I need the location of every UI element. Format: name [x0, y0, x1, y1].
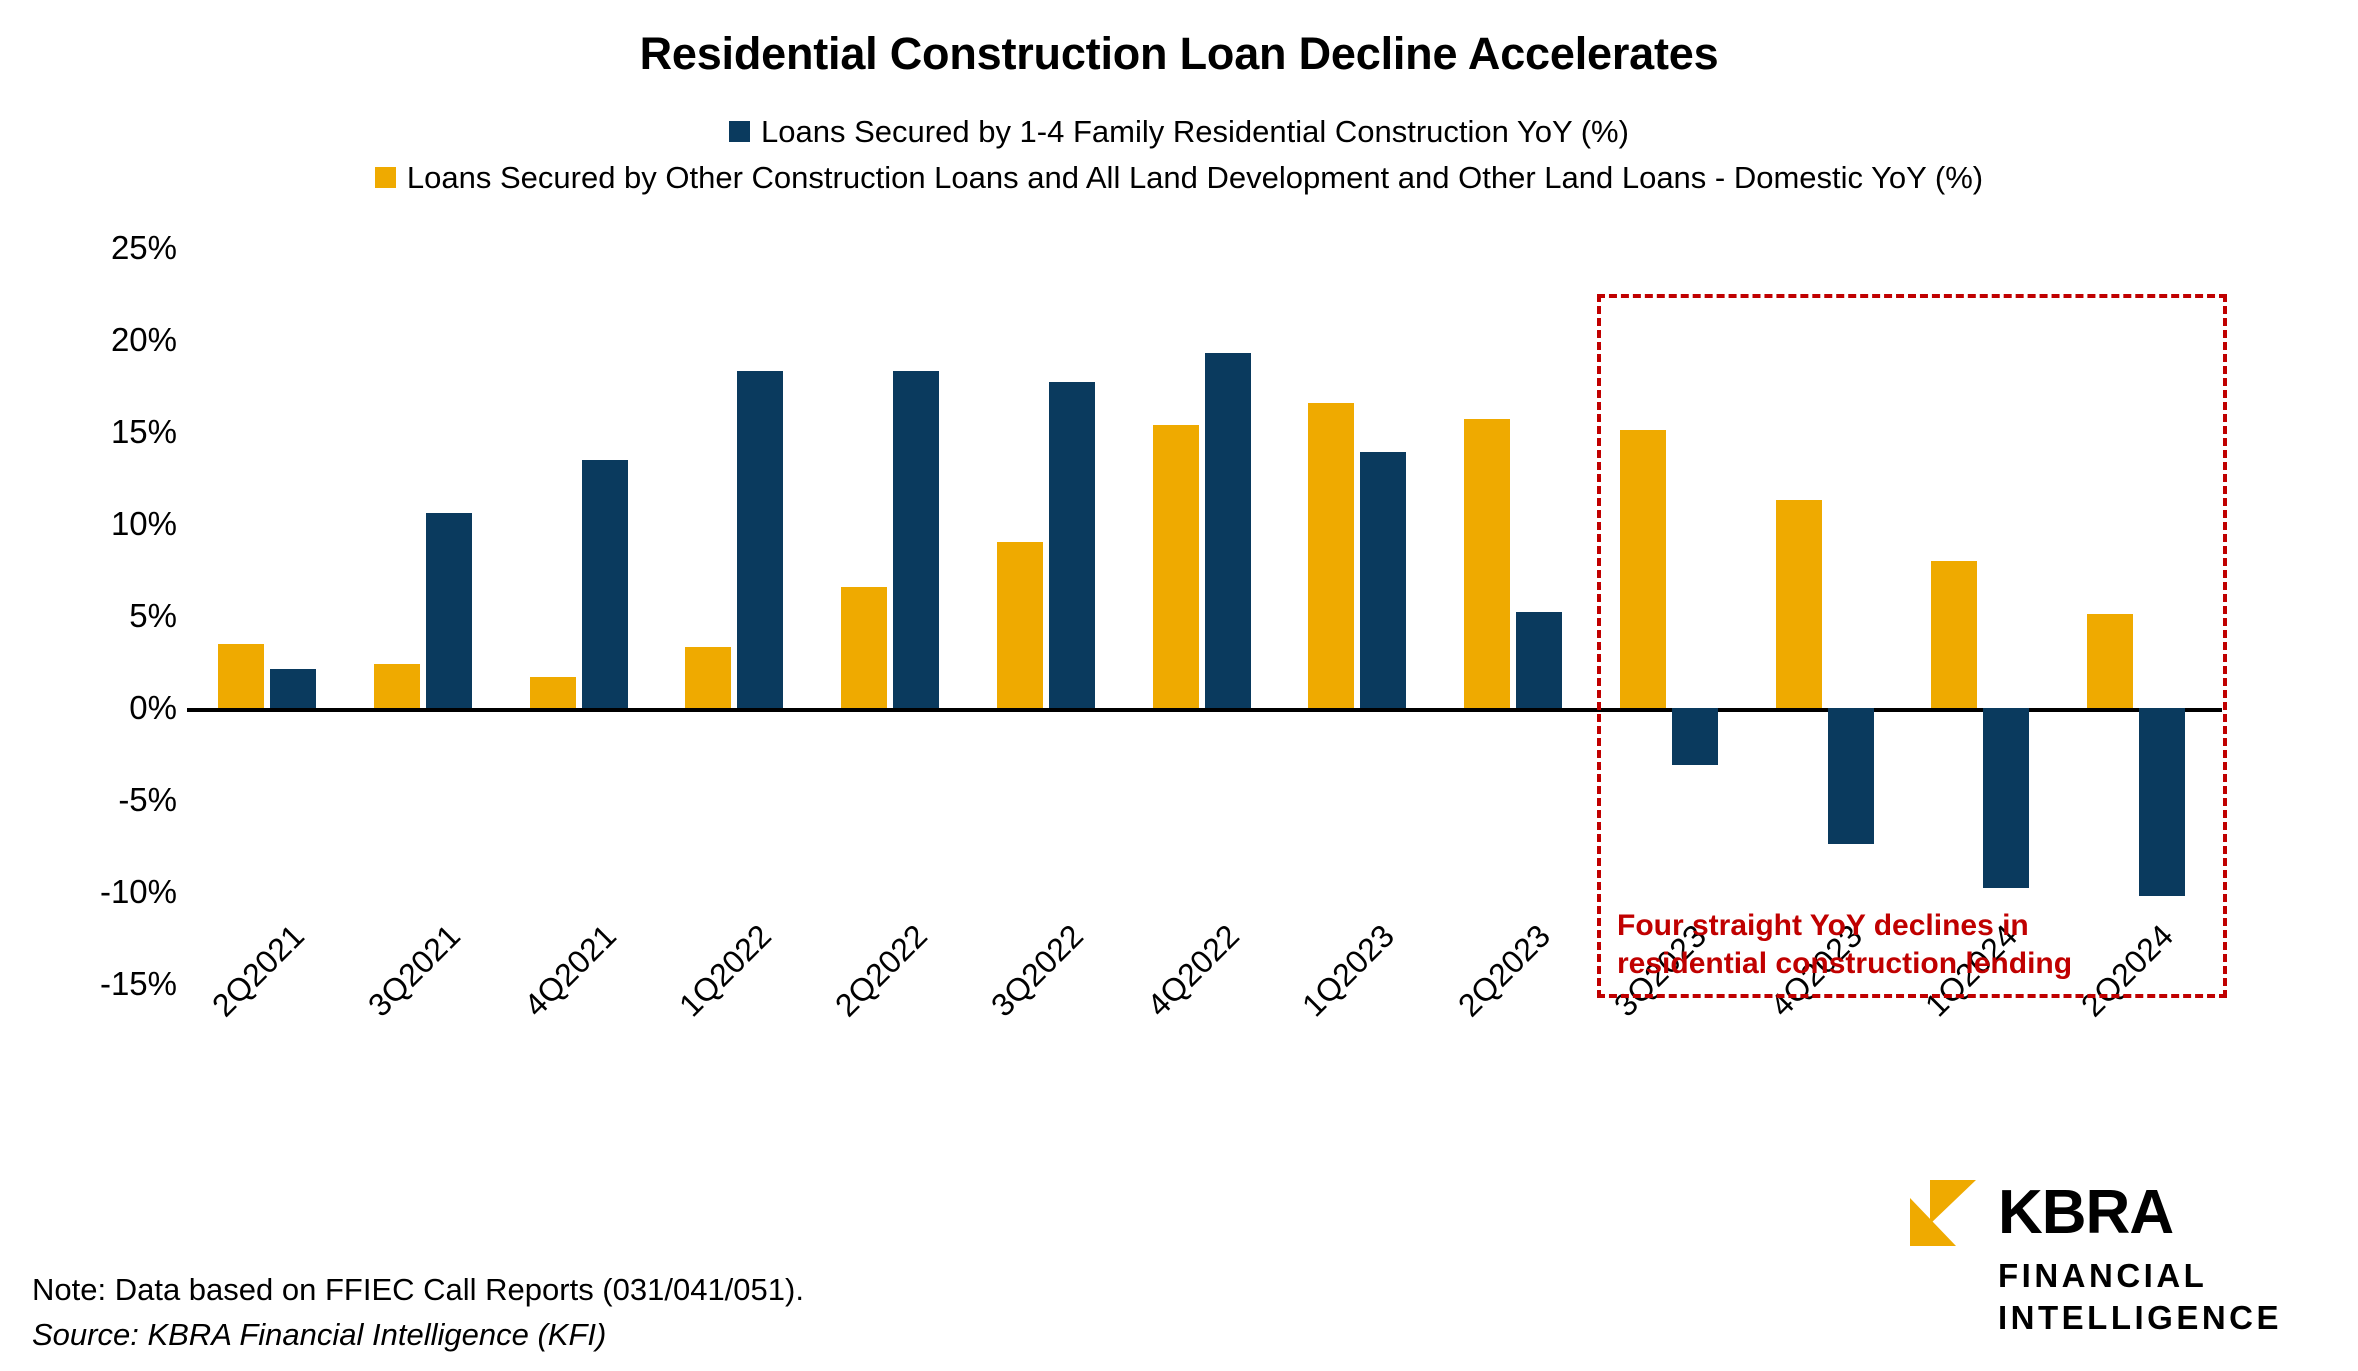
annotation-line-2: residential construction lending	[1617, 945, 2097, 983]
bar-orange[interactable]	[841, 587, 887, 708]
x-axis: 2Q20213Q20214Q20211Q20222Q20223Q20224Q20…	[197, 990, 2222, 1140]
y-axis: 25%20%15%10%5%0%-5%-10%-15%	[57, 248, 177, 984]
y-tick-label: -10%	[57, 873, 177, 911]
bar-orange[interactable]	[1308, 403, 1354, 708]
bar-navy[interactable]	[893, 371, 939, 708]
bar-group	[976, 248, 1132, 984]
bar-orange[interactable]	[1464, 419, 1510, 708]
x-tick-cell: 2Q2021	[197, 990, 353, 1140]
bar-navy[interactable]	[737, 371, 783, 708]
legend-item-orange[interactable]: Loans Secured by Other Construction Loan…	[375, 154, 1983, 200]
bar-navy[interactable]	[270, 669, 316, 708]
legend-swatch-orange	[375, 167, 396, 188]
x-tick-cell: 3Q2022	[976, 990, 1132, 1140]
bar-navy[interactable]	[1049, 382, 1095, 708]
x-tick-cell: 2Q2022	[820, 990, 976, 1140]
x-tick-cell: 2Q2023	[1443, 990, 1599, 1140]
legend-swatch-navy	[729, 121, 750, 142]
bar-orange[interactable]	[1153, 425, 1199, 708]
bar-group	[820, 248, 976, 984]
kbra-logo: KBRA FINANCIAL INTELLIGENCE	[1910, 1180, 2330, 1350]
x-tick-cell: 4Q2022	[1132, 990, 1288, 1140]
bar-navy[interactable]	[1205, 353, 1251, 708]
x-tick-cell: 2Q2024	[2066, 990, 2222, 1140]
logo-subline-2: INTELLIGENCE	[1998, 1297, 2330, 1339]
bar-group	[664, 248, 820, 984]
bar-group	[1132, 248, 1288, 984]
x-tick-cell: 3Q2023	[1599, 990, 1755, 1140]
y-tick-label: 15%	[57, 413, 177, 451]
x-tick-cell: 1Q2022	[664, 990, 820, 1140]
y-tick-label: 25%	[57, 229, 177, 267]
y-tick-label: 5%	[57, 597, 177, 635]
highlight-box	[1597, 294, 2227, 998]
bar-group	[1287, 248, 1443, 984]
source-text: Source: KBRA Financial Intelligence (KFI…	[32, 1313, 804, 1358]
note-text: Note: Data based on FFIEC Call Reports (…	[32, 1268, 804, 1313]
bar-orange[interactable]	[997, 542, 1043, 708]
x-tick-cell: 1Q2024	[1910, 990, 2066, 1140]
x-tick-cell: 4Q2023	[1755, 990, 1911, 1140]
x-tick-cell: 1Q2023	[1287, 990, 1443, 1140]
bar-navy[interactable]	[426, 513, 472, 708]
y-tick-label: -5%	[57, 781, 177, 819]
logo-wordmark: KBRA	[1998, 1184, 2173, 1243]
bar-group	[1443, 248, 1599, 984]
x-tick-cell: 4Q2021	[509, 990, 665, 1140]
x-tick-cell: 3Q2021	[353, 990, 509, 1140]
annotation-line-1: Four straight YoY declines in	[1617, 907, 2097, 945]
bar-orange[interactable]	[685, 647, 731, 708]
bar-orange[interactable]	[530, 677, 576, 708]
y-tick-label: 20%	[57, 321, 177, 359]
chart-legend: Loans Secured by 1-4 Family Residential …	[0, 108, 2358, 200]
y-tick-label: -15%	[57, 965, 177, 1003]
annotation-text: Four straight YoY declines in residentia…	[1617, 907, 2097, 984]
footer-note: Note: Data based on FFIEC Call Reports (…	[32, 1268, 804, 1358]
legend-label-orange: Loans Secured by Other Construction Loan…	[407, 162, 1983, 193]
bar-navy[interactable]	[1360, 452, 1406, 708]
y-tick-label: 0%	[57, 689, 177, 727]
y-tick-label: 10%	[57, 505, 177, 543]
legend-label-navy: Loans Secured by 1-4 Family Residential …	[761, 116, 1629, 147]
bar-group	[509, 248, 665, 984]
bar-navy[interactable]	[582, 460, 628, 708]
legend-item-navy[interactable]: Loans Secured by 1-4 Family Residential …	[729, 108, 1629, 154]
bar-navy[interactable]	[1516, 612, 1562, 708]
page-title: Residential Construction Loan Decline Ac…	[0, 28, 2358, 80]
bar-group	[353, 248, 509, 984]
bar-orange[interactable]	[218, 644, 264, 708]
chart-page: Residential Construction Loan Decline Ac…	[0, 0, 2358, 1371]
kbra-k-mark-icon	[1910, 1180, 1976, 1246]
logo-subline-1: FINANCIAL	[1998, 1255, 2330, 1297]
bar-orange[interactable]	[374, 664, 420, 708]
bar-group	[197, 248, 353, 984]
